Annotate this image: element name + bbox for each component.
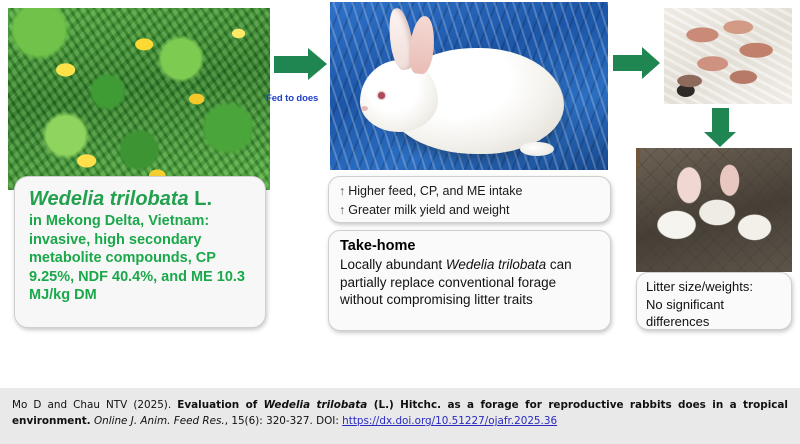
- litter-results-box: Litter size/weights: No significant diff…: [636, 272, 792, 330]
- doi-link[interactable]: https://dx.doi.org/10.51227/ojafr.2025.3…: [342, 415, 557, 427]
- arrow-shaft: [274, 56, 310, 73]
- take-home-text: Locally abundant Wedelia trilobata can p…: [340, 256, 599, 309]
- species-name: Wedelia trilobata: [29, 188, 189, 210]
- graphical-abstract-stage: Fed to does Wedelia trilobata L. in Meko…: [0, 0, 800, 388]
- litter-line: differences: [646, 313, 782, 331]
- citation-authors-year: Mo D and Chau NTV (2025).: [12, 399, 177, 411]
- intake-outcomes-box: ↑Higher feed, CP, and ME intake ↑Greater…: [328, 176, 611, 223]
- intake-line: ↑Greater milk yield and weight: [339, 201, 600, 220]
- arrow-head: [308, 48, 327, 80]
- rabbit-eye-shape: [378, 92, 385, 99]
- take-home-species: Wedelia trilobata: [446, 257, 546, 272]
- species-authority: L.: [189, 188, 212, 210]
- citation-footer: Mo D and Chau NTV (2025). Evaluation of …: [0, 388, 800, 444]
- doe-rabbit-photo: [330, 2, 608, 170]
- intake-line-text: Greater milk yield and weight: [348, 203, 509, 217]
- newborn-kits-photo: [664, 8, 792, 104]
- arrow-shaft: [712, 108, 729, 134]
- weanling-rabbits-photo: [636, 148, 792, 272]
- take-home-text-before: Locally abundant: [340, 257, 446, 272]
- wedelia-plant-photo: [8, 8, 270, 190]
- arrow-up-icon: ↑: [339, 203, 345, 217]
- citation-title-species: Wedelia trilobata: [264, 399, 368, 411]
- arrow-up-icon: ↑: [339, 184, 345, 198]
- citation-volume-pages: , 15(6): 320-327. DOI:: [225, 415, 342, 427]
- plant-description-text: in Mekong Delta, Vietnam: invasive, high…: [29, 212, 251, 305]
- plant-species-title: Wedelia trilobata L.: [29, 189, 251, 210]
- citation-journal: Online J. Anim. Feed Res.: [94, 415, 225, 427]
- intake-line-text: Higher feed, CP, and ME intake: [348, 184, 522, 198]
- citation-text: Mo D and Chau NTV (2025). Evaluation of …: [12, 397, 788, 429]
- litter-line: No significant: [646, 296, 782, 314]
- litter-line: Litter size/weights:: [646, 278, 782, 296]
- take-home-heading: Take-home: [340, 237, 599, 256]
- rabbit-nose-shape: [361, 106, 368, 111]
- take-home-box: Take-home Locally abundant Wedelia trilo…: [328, 230, 611, 331]
- arrow-head: [642, 47, 660, 79]
- arrow-head: [704, 132, 736, 147]
- fed-to-does-label: Fed to does: [266, 93, 318, 104]
- rabbit-foot-shape: [520, 142, 554, 156]
- citation-title-part1: Evaluation of: [177, 399, 263, 411]
- intake-line: ↑Higher feed, CP, and ME intake: [339, 182, 600, 201]
- arrow-shaft: [613, 55, 644, 71]
- plant-description-box: Wedelia trilobata L. in Mekong Delta, Vi…: [14, 176, 266, 328]
